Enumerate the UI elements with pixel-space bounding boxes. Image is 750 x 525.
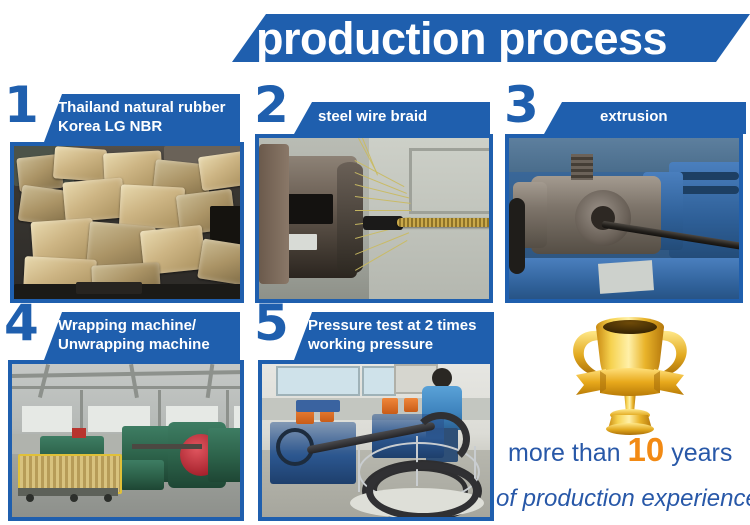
step-label-1-line-1: Thailand natural rubber: [58, 98, 240, 117]
years-label: years: [671, 439, 732, 467]
step-label-4: Wrapping machine/ Unwrapping machine: [44, 312, 240, 360]
step-number-2: 2: [254, 80, 289, 130]
step-label-3: extrusion: [544, 102, 746, 134]
step-photo-4: [8, 360, 244, 521]
step-number-5: 5: [254, 298, 289, 348]
step-number-4: 4: [4, 298, 39, 348]
step-panel-3: 3 extrusion: [500, 88, 750, 303]
step-label-4-line-2: Unwrapping machine: [58, 335, 240, 354]
step-label-5-line-2: working pressure: [308, 335, 494, 354]
production-process-infographic: production process 1 Thailand natural ru…: [0, 0, 750, 525]
step-number-3: 3: [504, 80, 539, 130]
step-panel-5: 5 Pressure test at 2 times working press…: [250, 306, 495, 521]
step-photo-2: [255, 134, 493, 303]
experience-caption: of production experience: [496, 483, 750, 515]
experience-years-line: more than 10 years: [508, 433, 750, 467]
step-label-1: Thailand natural rubber Korea LG NBR: [44, 94, 240, 142]
more-than-label: more than: [508, 439, 621, 467]
step-label-5-line-1: Pressure test at 2 times: [308, 316, 494, 335]
trophy-icon: [520, 303, 740, 443]
step-label-1-line-2: Korea LG NBR: [58, 117, 240, 136]
step-label-2-line-1: steel wire braid: [318, 107, 490, 126]
step-label-3-line-1: extrusion: [600, 107, 746, 126]
step-label-4-line-1: Wrapping machine/: [58, 316, 240, 335]
step-number-1: 1: [4, 80, 39, 130]
page-title: production process: [256, 10, 750, 76]
step-panel-1: 1 Thailand natural rubber Korea LG NBR: [0, 88, 245, 303]
step-label-2: steel wire braid: [294, 102, 490, 134]
step-photo-3: [505, 134, 743, 303]
step-label-5: Pressure test at 2 times working pressur…: [294, 312, 494, 360]
years-number: 10: [628, 431, 665, 468]
step-panel-2: 2 steel wire braid: [250, 88, 495, 303]
step-panel-4: 4 Wrapping machine/ Unwrapping machine: [0, 306, 245, 521]
step-photo-5: [258, 360, 494, 521]
step-photo-1: [10, 142, 244, 303]
